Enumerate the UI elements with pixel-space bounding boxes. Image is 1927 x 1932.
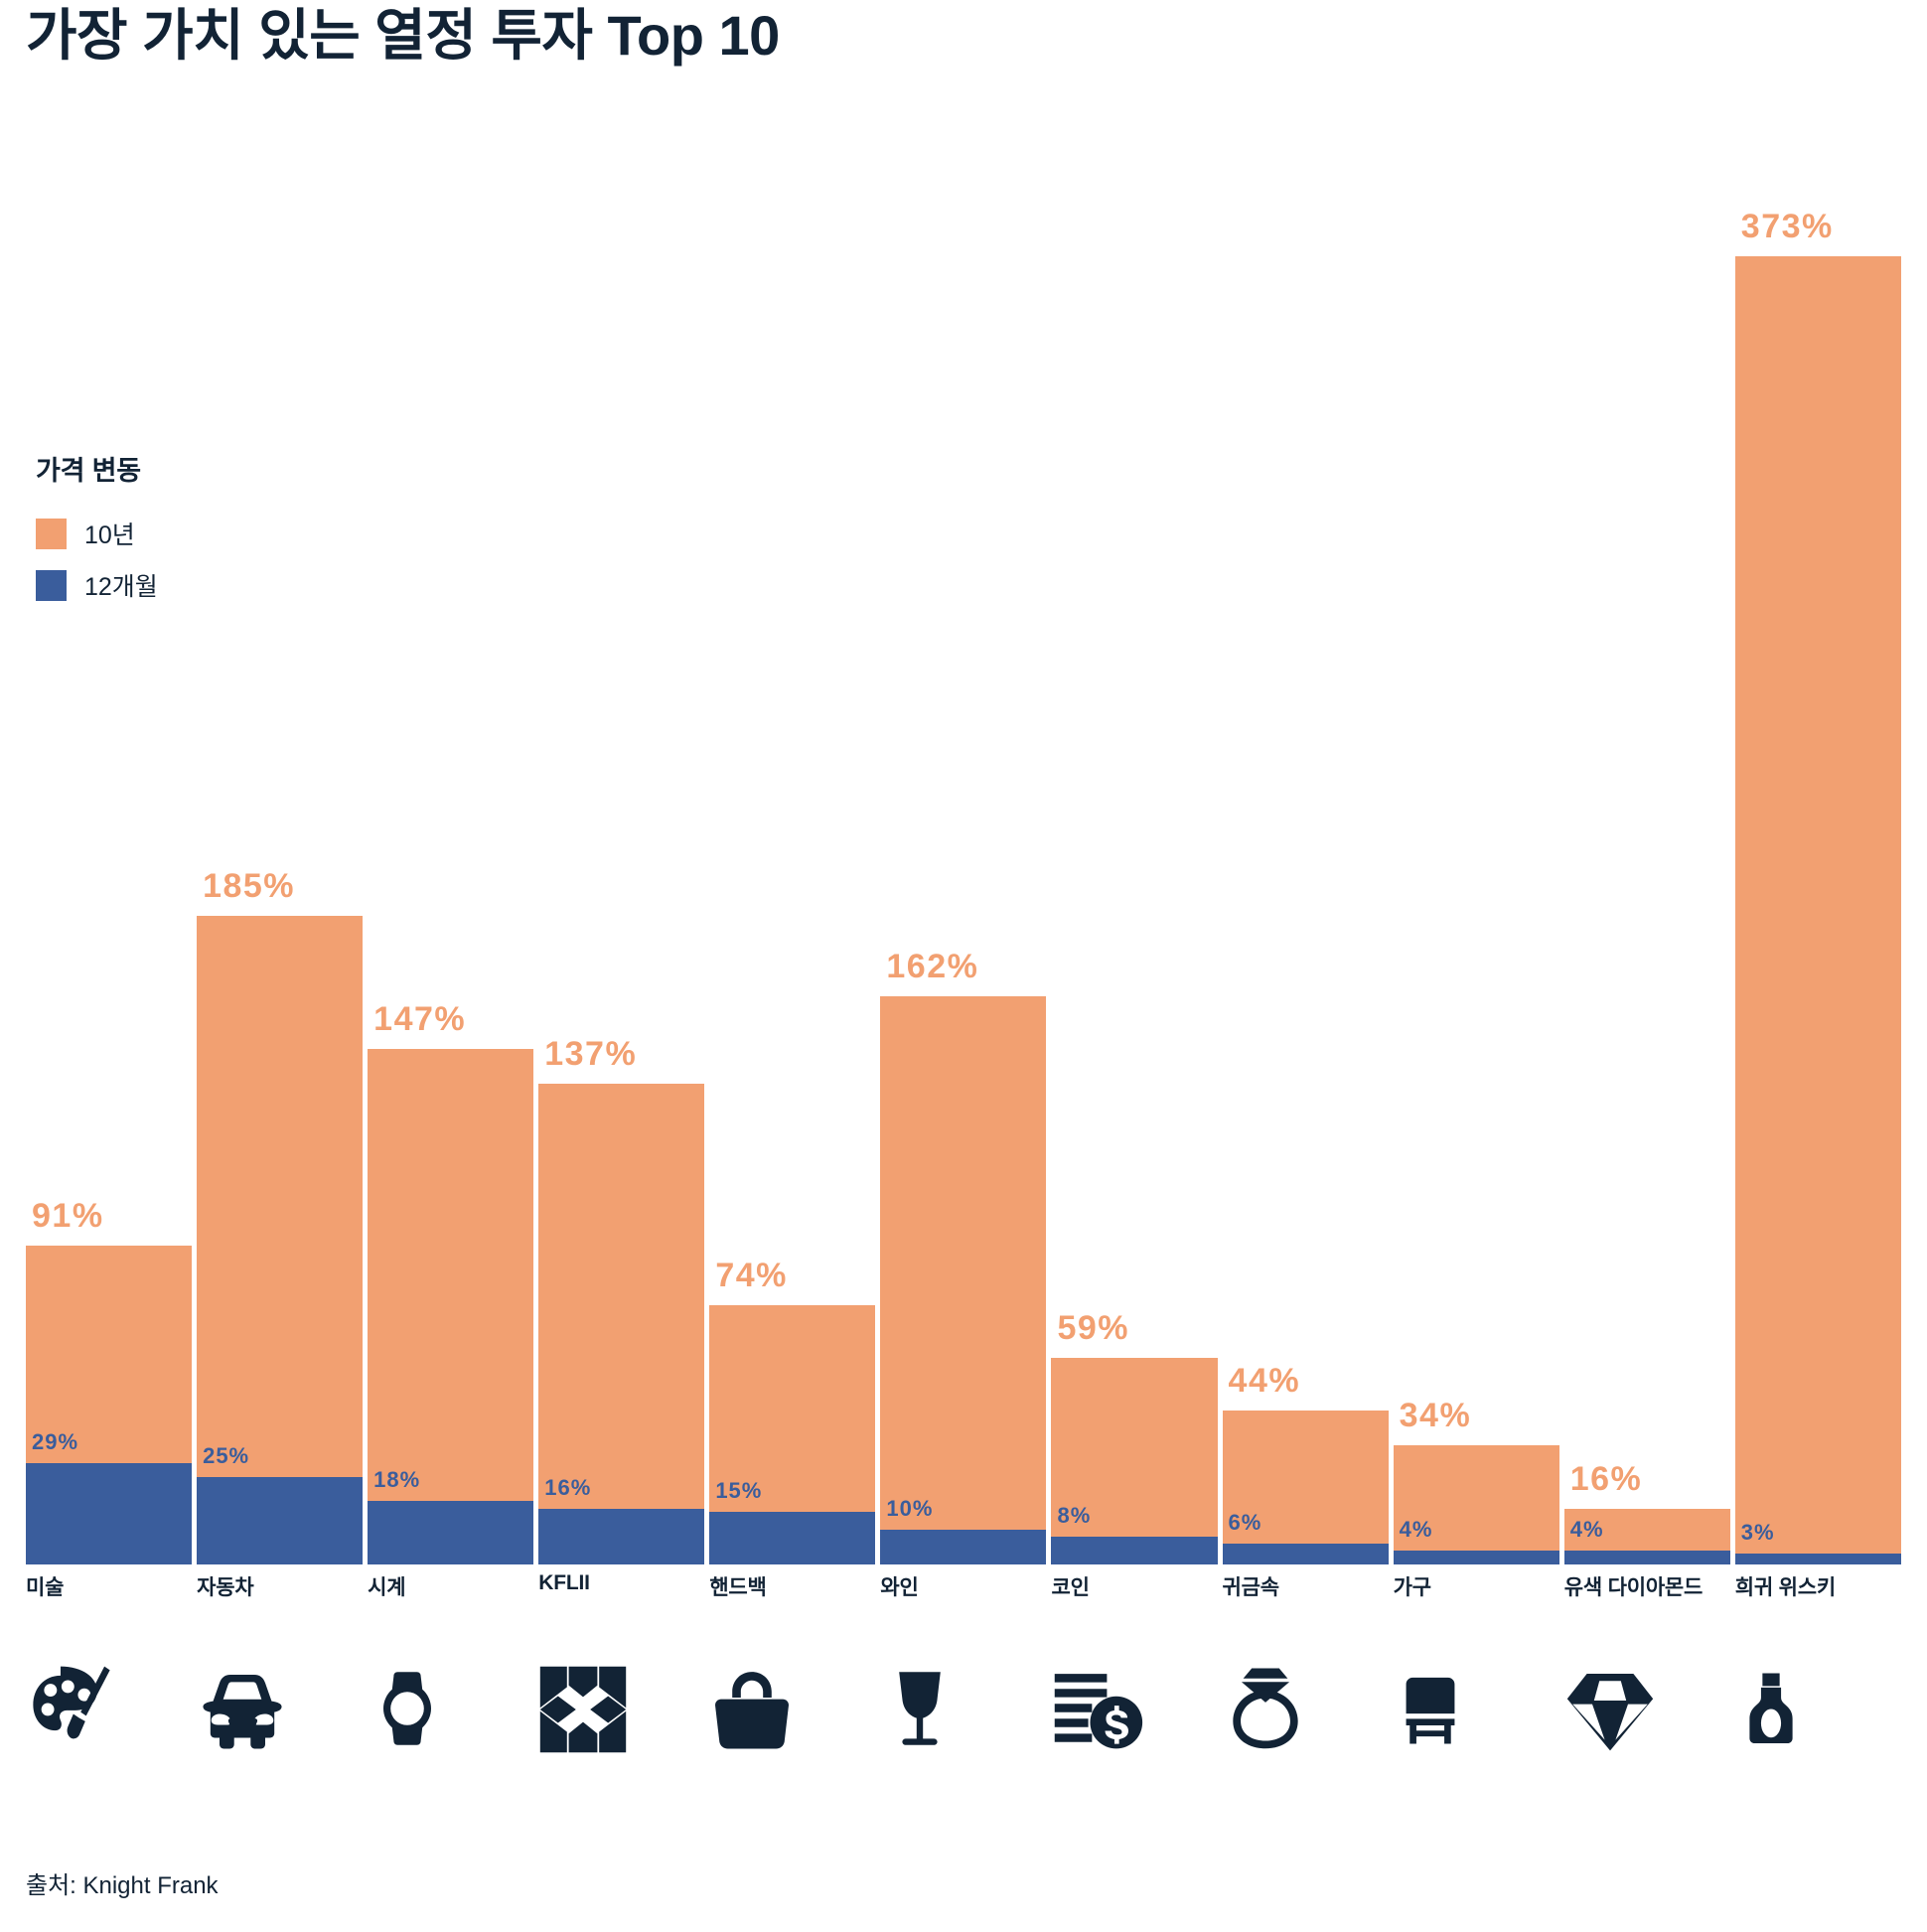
bar-column-3[interactable]: 147%18% (368, 199, 533, 1564)
bar-segment-twelve-month[interactable]: 25% (197, 1477, 363, 1564)
bar-value-label-twelve-month: 29% (32, 1429, 78, 1455)
whisky-bottle-icon (1735, 1625, 1901, 1754)
diamond-ring-icon (1223, 1625, 1389, 1754)
bar-segment-twelve-month[interactable]: 10% (880, 1530, 1046, 1564)
x-axis-label-8: 귀금속 (1223, 1571, 1389, 1601)
bar-column-9[interactable]: 34%4% (1394, 199, 1559, 1564)
bar-value-label-ten-year: 91% (32, 1197, 104, 1236)
bar-group: 91%29%185%25%147%18%137%16%74%15%162%10%… (26, 199, 1901, 1564)
bar-value-label-twelve-month: 16% (544, 1475, 591, 1501)
x-axis-label-1: 미술 (26, 1571, 192, 1601)
source-note: 출처: Knight Frank (26, 1865, 219, 1900)
bar-value-label-twelve-month: 15% (715, 1478, 762, 1504)
bar-segment-twelve-month[interactable]: 15% (709, 1512, 875, 1564)
bar-value-label-twelve-month: 18% (373, 1467, 420, 1493)
gemstone-icon (1564, 1625, 1730, 1754)
x-axis-label-7: 코인 (1051, 1571, 1217, 1601)
coins-dollar-icon (1051, 1625, 1217, 1754)
bar-value-label-twelve-month: 25% (203, 1443, 249, 1469)
bar-column-1[interactable]: 91%29% (26, 199, 192, 1564)
bar-value-label-ten-year: 59% (1057, 1309, 1129, 1348)
bar-column-10[interactable]: 16%4% (1564, 199, 1730, 1564)
bar-value-label-ten-year: 16% (1570, 1460, 1643, 1499)
bar-value-label-ten-year: 44% (1229, 1362, 1301, 1401)
bar-column-8[interactable]: 44%6% (1223, 199, 1389, 1564)
bar-segment-ten-year[interactable]: 373% (1735, 256, 1901, 1554)
bar-column-2[interactable]: 185%25% (197, 199, 363, 1564)
bar-segment-twelve-month[interactable]: 29% (26, 1463, 192, 1564)
bar-segment-ten-year[interactable]: 185% (197, 916, 363, 1477)
bar-segment-twelve-month[interactable]: 4% (1394, 1551, 1559, 1564)
bar-value-label-ten-year: 162% (886, 948, 978, 986)
bar-segment-ten-year[interactable]: 147% (368, 1049, 533, 1501)
car-icon (197, 1625, 363, 1754)
bar-column-11[interactable]: 373%3% (1735, 199, 1901, 1564)
bar-value-label-ten-year: 373% (1741, 208, 1834, 246)
x-axis-label-10: 유색 다이아몬드 (1564, 1571, 1730, 1601)
x-axis-label-9: 가구 (1394, 1571, 1559, 1601)
bar-value-label-twelve-month: 8% (1057, 1503, 1091, 1529)
category-icon-row (26, 1625, 1901, 1754)
bar-segment-twelve-month[interactable]: 8% (1051, 1537, 1217, 1564)
x-axis-label-2: 자동차 (197, 1571, 363, 1601)
bar-segment-ten-year[interactable]: 137% (538, 1084, 704, 1508)
bar-segment-twelve-month[interactable]: 4% (1564, 1551, 1730, 1564)
bar-value-label-ten-year: 34% (1400, 1397, 1472, 1435)
bar-value-label-twelve-month: 6% (1229, 1510, 1262, 1536)
bar-column-5[interactable]: 74%15% (709, 199, 875, 1564)
page-title: 가장 가치 있는 열정 투자 Top 10 (26, 4, 780, 68)
plot-area: 91%29%185%25%147%18%137%16%74%15%162%10%… (26, 199, 1901, 1564)
bar-column-6[interactable]: 162%10% (880, 199, 1046, 1564)
x-axis-category-labels: 미술자동차시계KFLII핸드백와인코인귀금속가구유색 다이아몬드희귀 위스키 (26, 1571, 1901, 1601)
bar-value-label-ten-year: 147% (373, 1000, 466, 1039)
wine-glass-icon (880, 1625, 1046, 1754)
x-axis-label-3: 시계 (368, 1571, 533, 1601)
kflii-diamond-logo-icon (538, 1625, 704, 1754)
bar-segment-twelve-month[interactable]: 16% (538, 1509, 704, 1564)
x-axis-label-11: 희귀 위스키 (1735, 1571, 1901, 1601)
x-axis-label-4: KFLII (538, 1571, 704, 1601)
bar-value-label-ten-year: 137% (544, 1035, 637, 1074)
bar-value-label-twelve-month: 10% (886, 1496, 933, 1522)
wristwatch-icon (368, 1625, 533, 1754)
bar-value-label-twelve-month: 3% (1741, 1520, 1775, 1546)
palette-paintbrush-icon (26, 1625, 192, 1754)
bar-value-label-ten-year: 74% (715, 1257, 788, 1295)
chart-canvas: 가장 가치 있는 열정 투자 Top 10 가격 변동 10년 12개월 91%… (0, 0, 1927, 1932)
bar-value-label-twelve-month: 4% (1570, 1517, 1604, 1543)
x-axis-label-6: 와인 (880, 1571, 1046, 1601)
bar-segment-twelve-month[interactable]: 18% (368, 1501, 533, 1564)
bar-segment-twelve-month[interactable]: 3% (1735, 1554, 1901, 1564)
bar-value-label-ten-year: 185% (203, 867, 295, 906)
bar-column-4[interactable]: 137%16% (538, 199, 704, 1564)
handbag-icon (709, 1625, 875, 1754)
chair-icon (1394, 1625, 1559, 1754)
bar-segment-twelve-month[interactable]: 6% (1223, 1544, 1389, 1564)
bar-column-7[interactable]: 59%8% (1051, 199, 1217, 1564)
x-axis-label-5: 핸드백 (709, 1571, 875, 1601)
bar-value-label-twelve-month: 4% (1400, 1517, 1433, 1543)
bar-segment-ten-year[interactable]: 162% (880, 996, 1046, 1530)
